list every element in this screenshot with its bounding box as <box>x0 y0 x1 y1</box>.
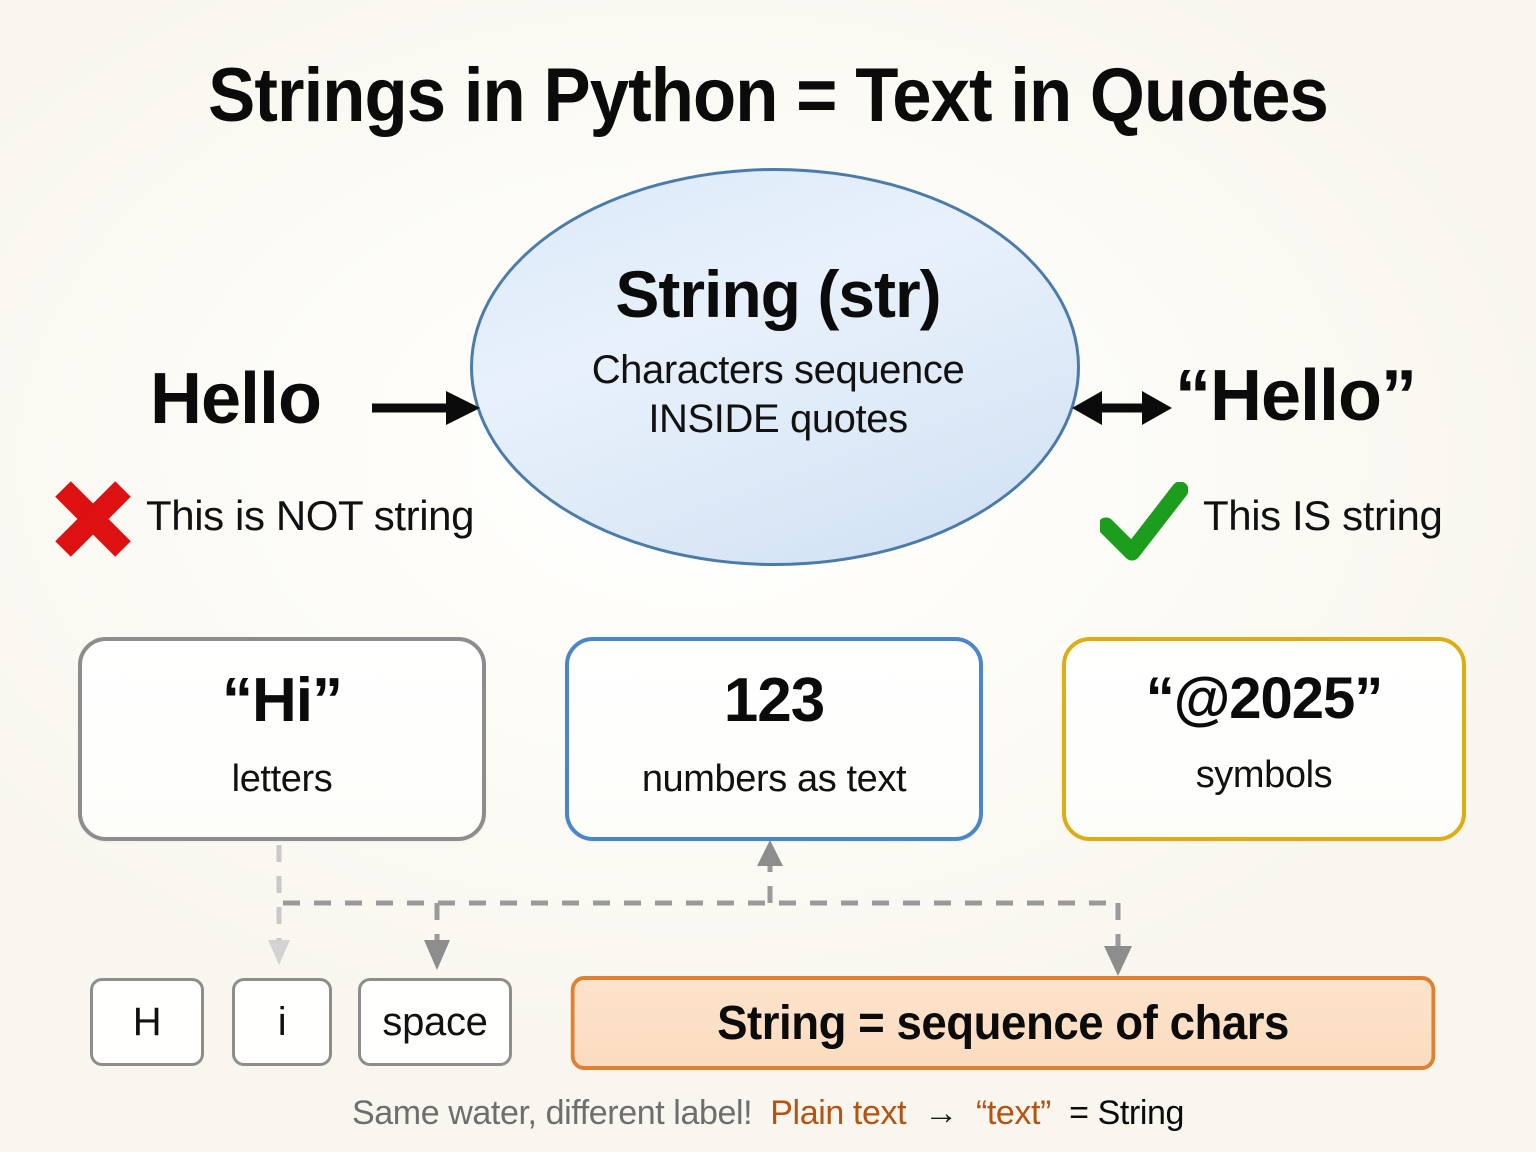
is-string-label: This IS string <box>1203 492 1442 540</box>
char-box-space: space <box>358 978 512 1066</box>
example-card-symbols[interactable]: “@2025” symbols <box>1062 637 1466 841</box>
card-caption-letters: letters <box>82 758 482 801</box>
card-value-numbers: 123 <box>569 665 979 736</box>
card-caption-symbols: symbols <box>1066 754 1462 797</box>
footer-part-plain-text: Plain text <box>770 1094 906 1132</box>
plain-hello-label: Hello <box>150 358 321 440</box>
diagram-canvas: Strings in Python = Text in Quotes Strin… <box>0 0 1536 1152</box>
arrow-left-right-icon <box>1072 385 1172 431</box>
card-value-letters: “Hi” <box>82 665 482 736</box>
page-title: Strings in Python = Text in Quotes <box>54 52 1482 139</box>
arrow-right-icon <box>372 385 482 431</box>
char-box-i: i <box>232 978 332 1066</box>
red-x-icon <box>52 478 134 560</box>
ellipse-heading: String (str) <box>473 259 1083 330</box>
summary-banner: String = sequence of chars <box>571 976 1436 1070</box>
quoted-hello-label: “Hello” <box>1175 355 1416 437</box>
example-card-letters[interactable]: “Hi” letters <box>78 637 486 841</box>
footer-part-analogy: Same water, different label! <box>352 1094 752 1132</box>
card-value-symbols: “@2025” <box>1066 665 1462 732</box>
ellipse-subtitle-line1: Characters sequence <box>473 346 1083 395</box>
footer-part-equals-string: = String <box>1069 1094 1184 1132</box>
card-caption-numbers: numbers as text <box>569 758 979 801</box>
footer-arrow-icon: → <box>924 1094 958 1132</box>
example-card-numbers[interactable]: 123 numbers as text <box>565 637 983 841</box>
not-string-label: This is NOT string <box>146 492 474 540</box>
footer-part-quoted-text: “text” <box>976 1094 1051 1132</box>
green-check-icon <box>1100 482 1188 562</box>
string-concept-ellipse: String (str) Characters sequence INSIDE … <box>470 168 1080 566</box>
char-box-h: H <box>90 978 204 1066</box>
ellipse-subtitle-line2: INSIDE quotes <box>473 395 1083 444</box>
ellipse-content: String (str) Characters sequence INSIDE … <box>473 259 1083 444</box>
footer-note: Same water, different label! Plain text … <box>0 1094 1536 1133</box>
